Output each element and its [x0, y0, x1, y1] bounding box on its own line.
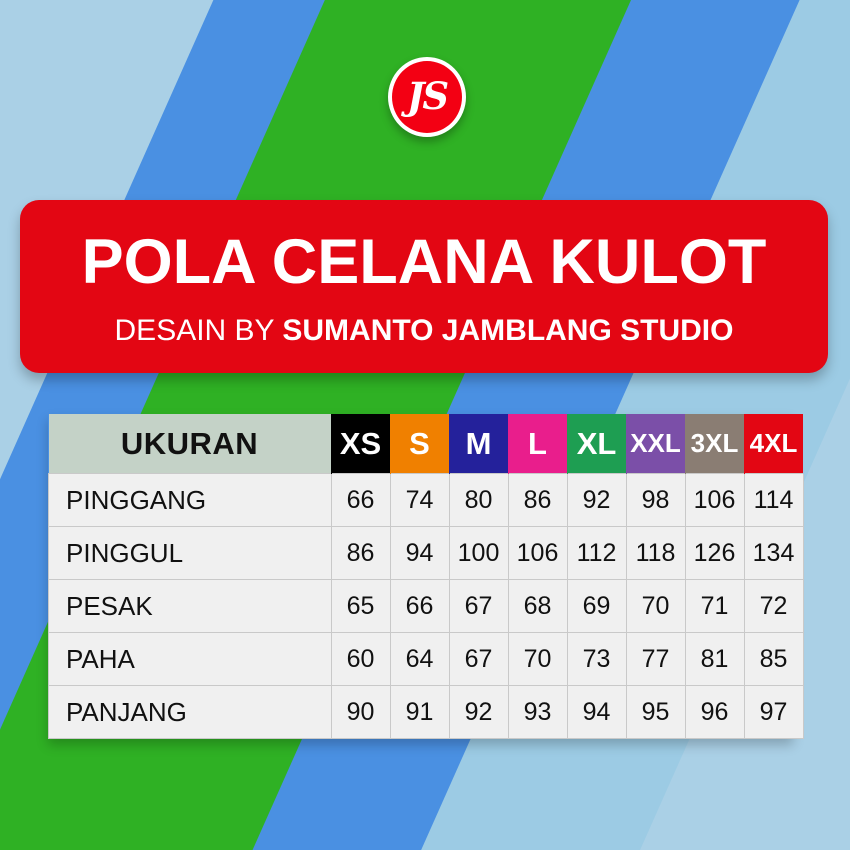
- cell-pinggul-xl: 112: [567, 527, 626, 580]
- cell-pinggul-s: 94: [390, 527, 449, 580]
- size-table-body: UKURAN XSSMLXLXXL3XL4XL PINGGANG66748086…: [49, 414, 804, 739]
- cell-paha-xl: 73: [567, 633, 626, 686]
- cell-paha-3xl: 81: [685, 633, 744, 686]
- cell-paha-m: 67: [449, 633, 508, 686]
- row-label-pinggul: PINGGUL: [49, 527, 332, 580]
- header-size-xxl: XXL: [626, 414, 685, 474]
- subtitle-prefix: DESAIN BY: [115, 314, 283, 347]
- cell-pinggul-l: 106: [508, 527, 567, 580]
- cell-panjang-xxl: 95: [626, 686, 685, 739]
- cell-pesak-4xl: 72: [744, 580, 803, 633]
- cell-pinggang-m: 80: [449, 474, 508, 527]
- title-banner: POLA CELANA KULOT DESAIN BY SUMANTO JAMB…: [20, 200, 828, 373]
- cell-paha-xs: 60: [331, 633, 390, 686]
- cell-pesak-l: 68: [508, 580, 567, 633]
- row-label-panjang: PANJANG: [49, 686, 332, 739]
- cell-pesak-m: 67: [449, 580, 508, 633]
- cell-paha-l: 70: [508, 633, 567, 686]
- row-label-pesak: PESAK: [49, 580, 332, 633]
- header-ukuran: UKURAN: [49, 414, 332, 474]
- row-label-pinggang: PINGGANG: [49, 474, 332, 527]
- cell-pinggang-xs: 66: [331, 474, 390, 527]
- page-subtitle: DESAIN BY SUMANTO JAMBLANG STUDIO: [115, 316, 734, 346]
- cell-pesak-3xl: 71: [685, 580, 744, 633]
- header-size-xl: XL: [567, 414, 626, 474]
- cell-pinggang-s: 74: [390, 474, 449, 527]
- cell-pinggang-4xl: 114: [744, 474, 803, 527]
- table-row: PINGGUL8694100106112118126134: [49, 527, 804, 580]
- js-logo: JS: [388, 57, 466, 137]
- table-row: PESAK6566676869707172: [49, 580, 804, 633]
- cell-pinggul-m: 100: [449, 527, 508, 580]
- cell-pesak-s: 66: [390, 580, 449, 633]
- header-size-m: M: [449, 414, 508, 474]
- header-size-3xl: 3XL: [685, 414, 744, 474]
- header-size-xs: XS: [331, 414, 390, 474]
- cell-panjang-4xl: 97: [744, 686, 803, 739]
- table-row: PAHA6064677073778185: [49, 633, 804, 686]
- cell-panjang-xs: 90: [331, 686, 390, 739]
- cell-panjang-xl: 94: [567, 686, 626, 739]
- cell-pesak-xl: 69: [567, 580, 626, 633]
- cell-panjang-3xl: 96: [685, 686, 744, 739]
- cell-paha-4xl: 85: [744, 633, 803, 686]
- cell-pinggul-3xl: 126: [685, 527, 744, 580]
- cell-pinggul-xs: 86: [331, 527, 390, 580]
- cell-panjang-m: 92: [449, 686, 508, 739]
- header-size-l: L: [508, 414, 567, 474]
- cell-panjang-l: 93: [508, 686, 567, 739]
- page-title: POLA CELANA KULOT: [82, 231, 767, 294]
- table-header-row: UKURAN XSSMLXLXXL3XL4XL: [49, 414, 804, 474]
- cell-pinggang-xl: 92: [567, 474, 626, 527]
- header-size-s: S: [390, 414, 449, 474]
- cell-pinggang-l: 86: [508, 474, 567, 527]
- cell-panjang-s: 91: [390, 686, 449, 739]
- size-table: UKURAN XSSMLXLXXL3XL4XL PINGGANG66748086…: [48, 414, 804, 739]
- size-table-wrapper: UKURAN XSSMLXLXXL3XL4XL PINGGANG66748086…: [48, 414, 793, 739]
- cell-pinggang-xxl: 98: [626, 474, 685, 527]
- cell-pinggul-4xl: 134: [744, 527, 803, 580]
- cell-paha-s: 64: [390, 633, 449, 686]
- cell-pinggang-3xl: 106: [685, 474, 744, 527]
- table-row: PINGGANG667480869298106114: [49, 474, 804, 527]
- subtitle-studio: SUMANTO JAMBLANG STUDIO: [282, 314, 733, 347]
- js-logo-text: JS: [407, 78, 447, 115]
- row-label-paha: PAHA: [49, 633, 332, 686]
- table-row: PANJANG9091929394959697: [49, 686, 804, 739]
- cell-pesak-xxl: 70: [626, 580, 685, 633]
- poster-canvas: JS POLA CELANA KULOT DESAIN BY SUMANTO J…: [0, 0, 850, 850]
- cell-pesak-xs: 65: [331, 580, 390, 633]
- cell-paha-xxl: 77: [626, 633, 685, 686]
- cell-pinggul-xxl: 118: [626, 527, 685, 580]
- header-size-4xl: 4XL: [744, 414, 803, 474]
